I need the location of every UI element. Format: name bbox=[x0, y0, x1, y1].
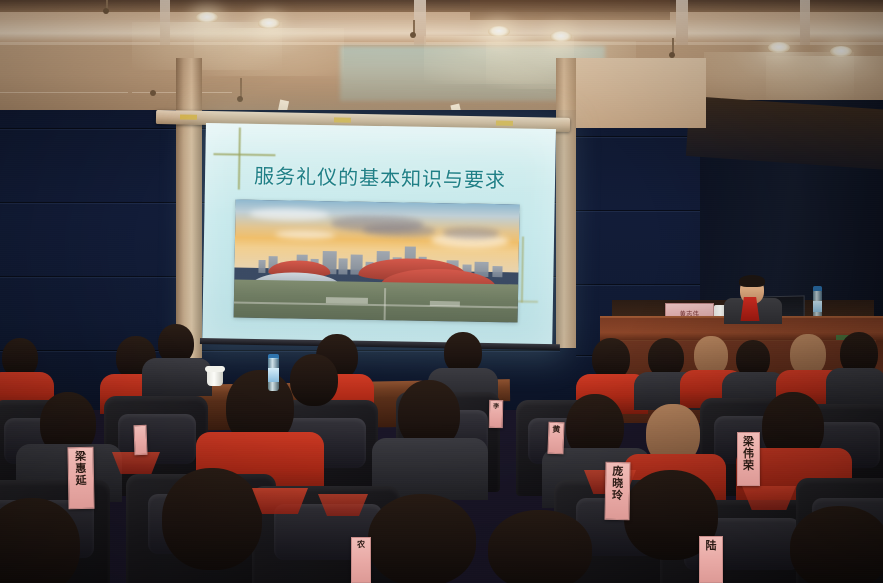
person-head bbox=[790, 506, 883, 583]
presenter-hair bbox=[739, 275, 765, 287]
photo-road bbox=[384, 288, 387, 320]
nametag-char: 农 bbox=[357, 541, 365, 550]
photo-plaza bbox=[430, 301, 460, 307]
slide-decoration-line bbox=[521, 237, 524, 303]
bottle-label bbox=[813, 301, 822, 312]
nametag-char: 玲 bbox=[612, 490, 623, 502]
nametag-char: 陆 bbox=[706, 540, 717, 552]
ceiling-spotlight bbox=[488, 26, 510, 37]
nametag-char: 李 bbox=[493, 404, 499, 411]
photo-road bbox=[234, 302, 518, 309]
tag-pang-xiaoling: 庞晓玲 bbox=[604, 462, 630, 520]
tag-li: 李 bbox=[489, 400, 503, 428]
ceiling-hanger-knob bbox=[410, 32, 416, 38]
ceiling-band bbox=[0, 20, 883, 42]
tag-partial-center: 农 bbox=[351, 537, 371, 583]
photo-building bbox=[492, 266, 502, 277]
ceiling-hanger-knob bbox=[237, 96, 243, 102]
ceiling-spotlight bbox=[196, 12, 218, 23]
housing-warning-label bbox=[180, 114, 197, 119]
tag-lu: 陆 bbox=[699, 536, 723, 583]
photo-building bbox=[258, 260, 265, 273]
projection-screen: 服务礼仪的基本知识与要求 bbox=[202, 123, 556, 347]
person-head bbox=[162, 468, 262, 570]
tag-partial-left-edge bbox=[133, 425, 147, 455]
desk-mug-lid bbox=[205, 366, 225, 372]
bottle-cap bbox=[813, 286, 822, 291]
nametag-char: 黄 bbox=[552, 426, 560, 435]
nametag-char: 荣 bbox=[743, 460, 754, 472]
wall-pillar-left bbox=[176, 58, 202, 358]
desk-bottle-label bbox=[268, 368, 279, 382]
wall-pillar-right bbox=[556, 58, 576, 348]
conference-hall-photo: 服务礼仪的基本知识与要求 bbox=[0, 0, 883, 583]
person-head bbox=[368, 494, 476, 583]
tag-huang: 黄 bbox=[547, 422, 564, 455]
slide-decoration-line bbox=[213, 153, 275, 156]
ceiling-spotlight bbox=[550, 31, 572, 42]
person-shoulders bbox=[142, 358, 212, 396]
nametag-char: 伟 bbox=[743, 448, 754, 460]
housing-warning-label bbox=[496, 121, 513, 126]
person-head bbox=[290, 354, 338, 406]
desk-mug bbox=[207, 370, 223, 386]
slide-title: 服务礼仪的基本知识与要求 bbox=[205, 159, 555, 194]
nametag-char: 延 bbox=[75, 475, 86, 487]
tag-liang-weirong: 梁伟荣 bbox=[737, 432, 760, 486]
wall-light-panel-right bbox=[576, 58, 706, 128]
ceiling-spotlight bbox=[830, 46, 852, 57]
ceiling-spotlight bbox=[768, 42, 790, 53]
ceiling-duct bbox=[470, 0, 670, 20]
ceiling-dark-strip bbox=[0, 0, 883, 12]
person-head bbox=[488, 510, 592, 583]
photo-plaza bbox=[326, 297, 368, 304]
photo-building bbox=[338, 259, 347, 275]
ceiling-hanger-knob bbox=[103, 8, 109, 14]
slide-photo-cityscape bbox=[234, 200, 520, 323]
housing-warning-label bbox=[334, 117, 351, 122]
ceiling-hanger-knob bbox=[150, 90, 156, 96]
photo-ground bbox=[234, 280, 519, 323]
ceiling-spotlight bbox=[258, 18, 280, 29]
tag-liang-huiyan: 梁惠延 bbox=[67, 447, 94, 509]
